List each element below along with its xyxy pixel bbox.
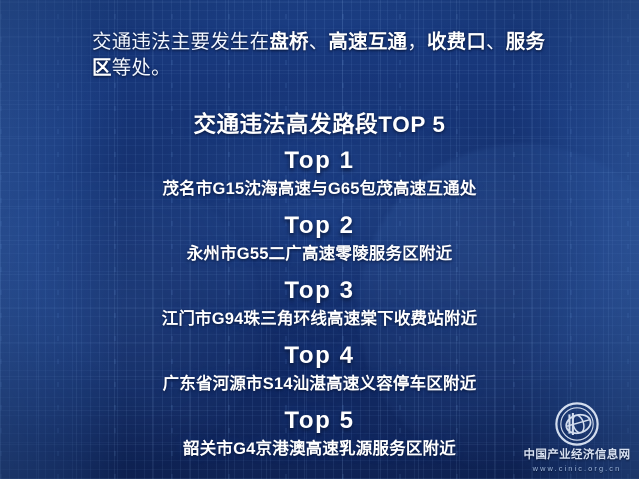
intro-emphasis: 盘桥 [269,31,308,53]
ranking-item: Top 1 茂名市G15沈海高速与G65包茂高速互通处 [0,146,639,201]
watermark-site-name: 中国产业经济信息网 [523,448,630,462]
intro-text: 等处。 [112,57,171,79]
page-title: 交通违法高发路段TOP 5 [0,107,639,139]
ranking-location: 茂名市G15沈海高速与G65包茂高速互通处 [0,177,639,201]
ranking-item: Top 3 江门市G94珠三角环线高速棠下收费站附近 [0,276,639,331]
intro-text: 、 [309,31,329,53]
ranking-location: 广东省河源市S14汕湛高速义容停车区附近 [0,372,639,396]
ranking-rank-label: Top 2 [0,211,639,241]
ranking-rank-label: Top 3 [0,276,639,306]
intro-emphasis: 收费口 [427,31,486,53]
site-watermark: 中国产业经济信息网 www.cinic.org.cn [521,402,633,474]
ranking-location: 江门市G94珠三角环线高速棠下收费站附近 [0,307,639,331]
poster-content: 交通违法主要发生在盘桥、高速互通，收费口、服务区等处。 交通违法高发路段TOP … [0,0,639,479]
ranking-item: Top 2 永州市G55二广高速零陵服务区附近 [0,211,639,266]
poster-canvas: 交通违法主要发生在盘桥、高速互通，收费口、服务区等处。 交通违法高发路段TOP … [0,0,639,479]
intro-paragraph: 交通违法主要发生在盘桥、高速互通，收费口、服务区等处。 [92,29,560,82]
intro-emphasis: 高速互通 [328,31,407,53]
watermark-site-url: www.cinic.org.cn [533,463,622,474]
intro-text: ， [407,31,427,53]
ranking-rank-label: Top 1 [0,146,639,176]
globe-logo-icon [555,402,599,446]
ranking-location: 永州市G55二广高速零陵服务区附近 [0,242,639,266]
ranking-rank-label: Top 4 [0,341,639,371]
ranking-item: Top 4 广东省河源市S14汕湛高速义容停车区附近 [0,341,639,396]
intro-text: 交通违法主要发生在 [92,31,269,53]
intro-text: 、 [486,31,506,53]
